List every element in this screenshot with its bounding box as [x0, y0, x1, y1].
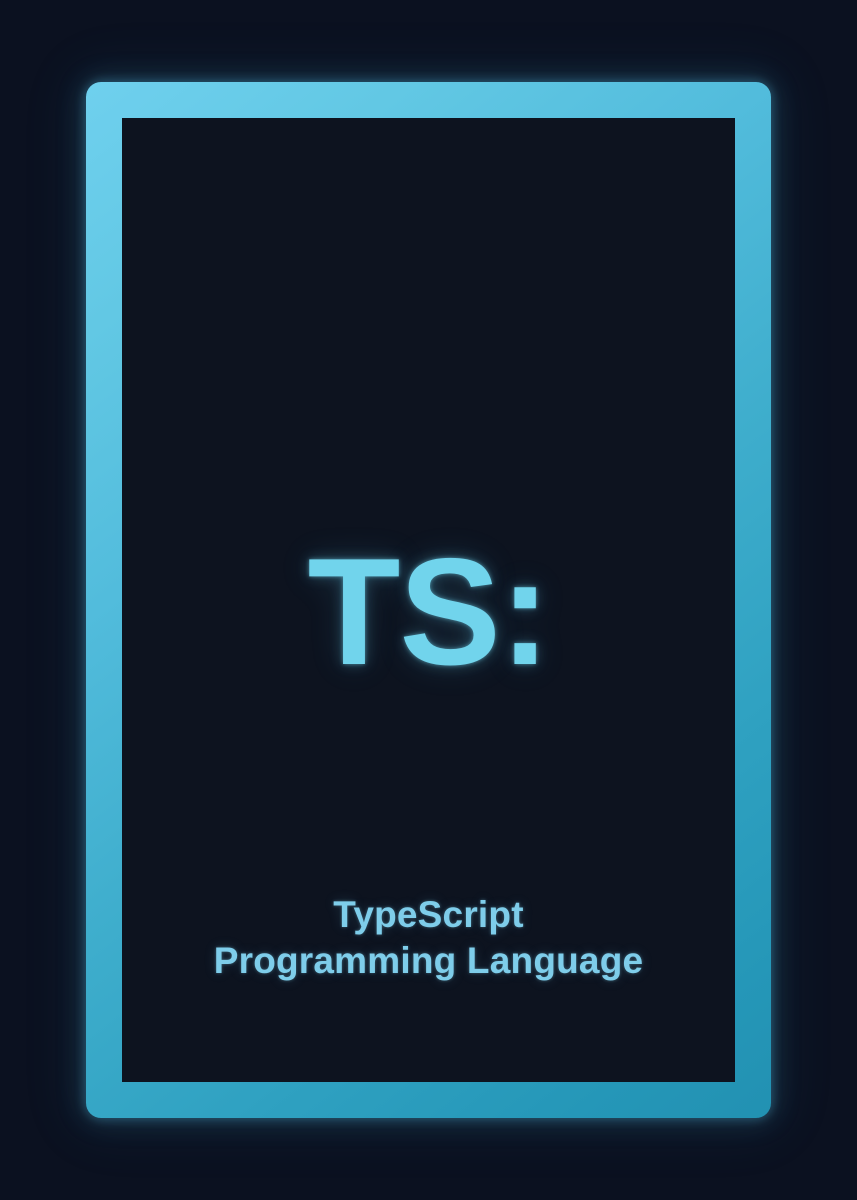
- poster-caption: TypeScript Programming Language: [122, 892, 735, 984]
- caption-line-primary: TypeScript: [122, 892, 735, 938]
- poster-frame: TS: TypeScript Programming Language: [86, 82, 771, 1118]
- caption-line-secondary: Programming Language: [122, 938, 735, 984]
- poster-canvas: TS: TypeScript Programming Language: [0, 0, 857, 1200]
- poster-panel: TS: TypeScript Programming Language: [122, 118, 735, 1082]
- typescript-logo-mark: TS:: [122, 536, 735, 688]
